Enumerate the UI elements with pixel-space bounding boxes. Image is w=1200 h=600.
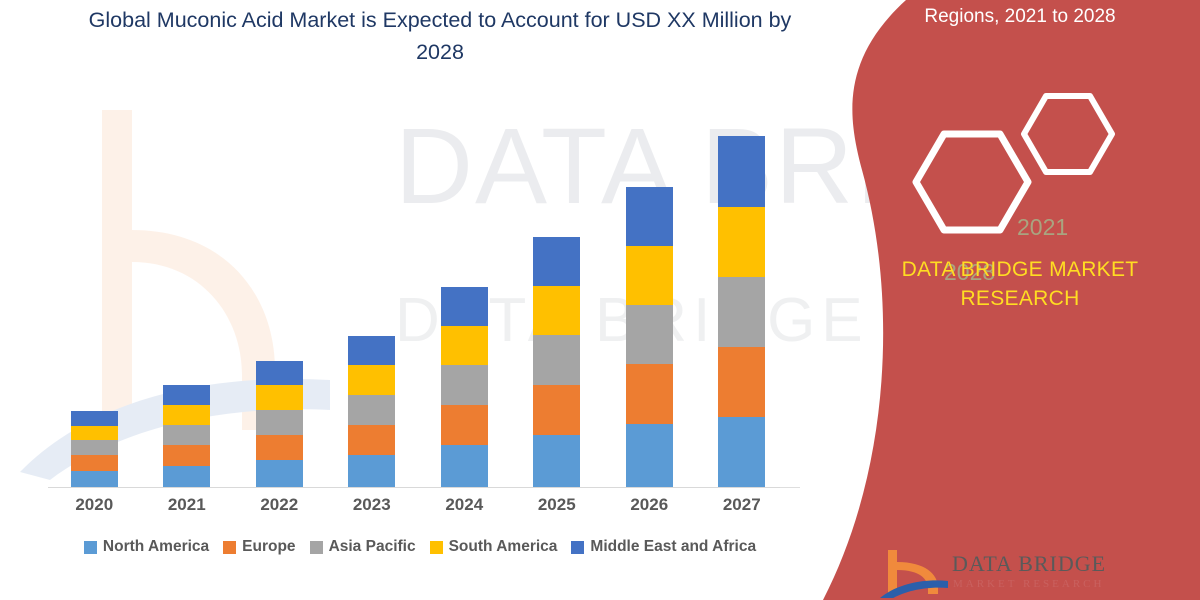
hexagon-2028-shape <box>916 134 1028 230</box>
corner-logo-name: DATA BRIDGE <box>952 551 1106 577</box>
bar-segment-europe[interactable] <box>441 405 488 445</box>
brand-line-2: RESEARCH <box>960 287 1079 310</box>
stacked-bar[interactable] <box>441 287 488 488</box>
bar-segment-north-america[interactable] <box>163 466 210 488</box>
legend-label: North America <box>103 538 209 556</box>
bar-segment-middle-east-and-africa[interactable] <box>441 287 488 326</box>
stacked-bar[interactable] <box>163 385 210 488</box>
legend-label: South America <box>449 538 558 556</box>
bar-segment-middle-east-and-africa[interactable] <box>718 136 765 207</box>
x-axis-tick-2023: 2023 <box>327 495 417 515</box>
corner-logo-tagline: MARKET RESEARCH <box>953 578 1104 590</box>
x-axis-tick-2020: 2020 <box>49 495 139 515</box>
x-axis-tick-2021: 2021 <box>142 495 232 515</box>
bar-segment-europe[interactable] <box>626 364 673 424</box>
bar-segment-middle-east-and-africa[interactable] <box>533 237 580 286</box>
legend-label: Asia Pacific <box>329 538 416 556</box>
legend-item-europe[interactable]: Europe <box>223 538 295 556</box>
bar-segment-north-america[interactable] <box>441 445 488 488</box>
x-axis-line <box>48 487 800 488</box>
legend-item-middle-east-and-africa[interactable]: Middle East and Africa <box>571 538 756 556</box>
bar-segment-middle-east-and-africa[interactable] <box>71 411 118 426</box>
stacked-bar[interactable] <box>533 237 580 488</box>
bar-segment-north-america[interactable] <box>256 460 303 488</box>
chart-title: Global Muconic Acid Market is Expected t… <box>70 4 810 68</box>
bar-segment-europe[interactable] <box>71 455 118 471</box>
legend-item-asia-pacific[interactable]: Asia Pacific <box>310 538 416 556</box>
bar-segment-south-america[interactable] <box>348 365 395 395</box>
bar-segment-europe[interactable] <box>163 445 210 466</box>
corner-logo: DATA BRIDGE MARKET RESEARCH <box>880 548 1200 600</box>
right-panel-content: Regions, 2021 to 2028 2028 2021 DATA BRI… <box>870 0 1200 600</box>
hexagon-2021-label: 2021 <box>1017 214 1068 241</box>
x-axis-tick-2024: 2024 <box>419 495 509 515</box>
bar-segment-north-america[interactable] <box>533 435 580 488</box>
bar-segment-south-america[interactable] <box>71 426 118 440</box>
bar-segment-asia-pacific[interactable] <box>718 277 765 347</box>
brand-line-1: DATA BRIDGE MARKET <box>902 258 1139 281</box>
legend-item-north-america[interactable]: North America <box>84 538 209 556</box>
stacked-bar[interactable] <box>256 361 303 488</box>
bar-segment-europe[interactable] <box>348 425 395 455</box>
legend-label: Europe <box>242 538 295 556</box>
bar-column-2025[interactable] <box>512 100 602 488</box>
bar-segment-south-america[interactable] <box>533 286 580 335</box>
bar-segment-asia-pacific[interactable] <box>348 395 395 425</box>
x-axis-tick-2027: 2027 <box>697 495 787 515</box>
stacked-bar[interactable] <box>626 187 673 488</box>
bar-segment-south-america[interactable] <box>441 326 488 365</box>
chart-legend: North AmericaEuropeAsia PacificSouth Ame… <box>40 538 800 556</box>
bar-segment-asia-pacific[interactable] <box>256 410 303 435</box>
legend-swatch-icon <box>430 541 443 554</box>
infographic-canvas: DATA BRIDGE DATA BRIDGE MARKET RESEARCH … <box>0 0 1200 600</box>
bar-column-2021[interactable] <box>142 100 232 488</box>
x-axis-tick-2022: 2022 <box>234 495 324 515</box>
legend-swatch-icon <box>310 541 323 554</box>
bar-segment-south-america[interactable] <box>718 207 765 277</box>
bar-segment-middle-east-and-africa[interactable] <box>626 187 673 246</box>
bar-segment-south-america[interactable] <box>163 405 210 425</box>
bar-segment-asia-pacific[interactable] <box>163 425 210 445</box>
hexagon-group: 2028 2021 <box>884 92 1184 242</box>
legend-item-south-america[interactable]: South America <box>430 538 558 556</box>
bar-segment-north-america[interactable] <box>348 455 395 488</box>
stacked-bar[interactable] <box>718 136 765 488</box>
bar-column-2024[interactable] <box>419 100 509 488</box>
bar-group <box>48 100 788 488</box>
bar-column-2027[interactable] <box>697 100 787 488</box>
bar-segment-europe[interactable] <box>256 435 303 460</box>
bar-segment-north-america[interactable] <box>626 424 673 488</box>
bar-segment-middle-east-and-africa[interactable] <box>256 361 303 385</box>
legend-swatch-icon <box>571 541 584 554</box>
legend-label: Middle East and Africa <box>590 538 756 556</box>
bar-segment-middle-east-and-africa[interactable] <box>348 336 395 365</box>
bar-segment-north-america[interactable] <box>71 471 118 488</box>
x-axis-tick-2026: 2026 <box>604 495 694 515</box>
bar-column-2023[interactable] <box>327 100 417 488</box>
bar-column-2026[interactable] <box>604 100 694 488</box>
brand-name: DATA BRIDGE MARKET RESEARCH <box>870 255 1170 313</box>
hexagon-2021-shape <box>1024 96 1112 172</box>
x-axis-labels: 20202021202220232024202520262027 <box>48 495 788 515</box>
bar-segment-europe[interactable] <box>533 385 580 435</box>
bar-segment-asia-pacific[interactable] <box>441 365 488 405</box>
stacked-bar[interactable] <box>348 336 395 488</box>
panel-heading: Regions, 2021 to 2028 <box>870 6 1170 28</box>
bar-column-2022[interactable] <box>234 100 324 488</box>
bar-segment-south-america[interactable] <box>626 246 673 305</box>
bar-segment-middle-east-and-africa[interactable] <box>163 385 210 405</box>
stacked-bar[interactable] <box>71 411 118 488</box>
bar-segment-asia-pacific[interactable] <box>533 335 580 385</box>
legend-swatch-icon <box>84 541 97 554</box>
bar-segment-europe[interactable] <box>718 347 765 417</box>
bar-segment-north-america[interactable] <box>718 417 765 488</box>
bar-segment-asia-pacific[interactable] <box>626 305 673 364</box>
bar-segment-south-america[interactable] <box>256 385 303 410</box>
bar-segment-asia-pacific[interactable] <box>71 440 118 455</box>
corner-logo-mark <box>880 548 950 598</box>
legend-swatch-icon <box>223 541 236 554</box>
x-axis-tick-2025: 2025 <box>512 495 602 515</box>
chart-plot-area <box>48 100 788 488</box>
bar-column-2020[interactable] <box>49 100 139 488</box>
